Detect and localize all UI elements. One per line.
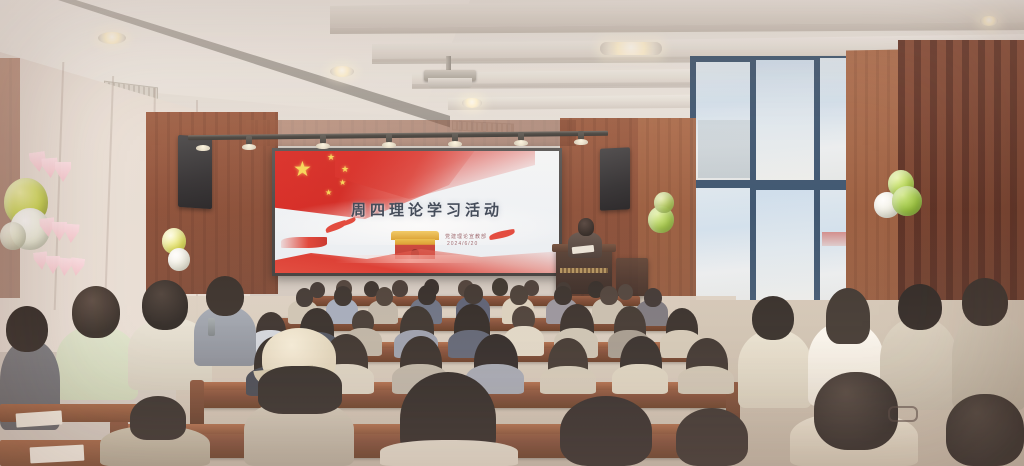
track-spotlight-lens-7 (196, 145, 210, 151)
person-body-d6 (612, 364, 668, 394)
person-head-b4 (418, 285, 436, 305)
track-spotlight-lens-1 (242, 144, 256, 150)
led-subtitle-line2: 2024/6/20 (447, 241, 478, 247)
person-body-front-2 (380, 440, 518, 466)
person-head-b2 (334, 286, 352, 306)
track-spotlight-lens-4 (448, 141, 462, 147)
person-hair-front-3 (560, 396, 652, 466)
led-main-title: 周四理论学习活动 (337, 199, 517, 220)
person-head-right-3 (898, 284, 942, 330)
track-spotlight-lens-6 (574, 139, 588, 145)
person-head-b3 (376, 287, 393, 306)
balloon-left-small (0, 222, 26, 250)
person-hair-front-4 (676, 408, 748, 466)
conference-hall-photo: ★ ★ ★ ★ ★ 周四理论学习活动 党建理论宣教部 2024/6/20 (0, 0, 1024, 466)
flag-star-2: ★ (341, 165, 349, 174)
person-head-b7 (554, 286, 572, 305)
projector-body (428, 78, 472, 88)
downlight-6 (980, 16, 998, 26)
left-wood-strip (0, 58, 20, 298)
window-mullion-v1 (750, 56, 756, 316)
person-front-1-hair (258, 366, 342, 414)
flag-star-1: ★ (327, 153, 335, 162)
ribbon-graphic-left (281, 237, 327, 248)
person-head-b8 (600, 286, 618, 305)
downlight-2 (330, 66, 354, 77)
glasses-front-5 (888, 406, 918, 422)
led-subtitle-line1: 党建理论宣教部 (445, 233, 487, 240)
person-head-left-3 (206, 276, 244, 316)
downlight-3 (462, 98, 482, 108)
flag-star-4: ★ (325, 189, 332, 197)
person-head-front-5 (814, 372, 898, 450)
outside-building (698, 120, 750, 178)
track-spotlight-lens-2 (316, 143, 330, 149)
podium-decorative-strip (560, 268, 608, 273)
led-base-highlight (335, 255, 485, 263)
person-head-left-4 (6, 306, 48, 352)
track-spotlight-lens-3 (382, 142, 396, 148)
window-pane-5 (696, 188, 750, 306)
paper-sheet-2 (30, 445, 85, 464)
person-body-right-1 (738, 330, 812, 408)
person-head-b6 (510, 285, 528, 305)
presenter-head (578, 218, 594, 236)
window-mullion-v2 (814, 56, 820, 316)
flag-star-3: ★ (339, 179, 346, 187)
person-body-d7 (678, 366, 734, 394)
downlight-4 (600, 42, 662, 55)
bench-row-d-end-left (190, 380, 204, 426)
person-head-b1 (296, 288, 313, 307)
person-head-left-1 (72, 286, 120, 338)
person-head-right-4 (962, 278, 1008, 326)
track-spotlight-lens-5 (514, 140, 528, 146)
wall-speaker-right (600, 147, 630, 211)
person-head-left-2 (142, 280, 188, 330)
water-bottle-1 (208, 318, 215, 336)
person-head-b5 (464, 284, 483, 304)
person-head-a11 (618, 284, 633, 300)
downlight-1 (98, 32, 126, 44)
person-head-front-7 (130, 396, 186, 440)
person-head-b9 (644, 288, 662, 307)
person-body-d5 (540, 366, 596, 394)
person-head-a7 (492, 278, 508, 296)
led-screen: ★ ★ ★ ★ ★ 周四理论学习活动 党建理论宣教部 2024/6/20 (275, 151, 559, 273)
window-pane-6 (756, 190, 814, 308)
person-head-front-6 (946, 394, 1024, 466)
person-head-right-1 (752, 296, 794, 340)
balloon-inner-white (168, 248, 190, 271)
window-pane-2 (756, 60, 814, 182)
balloon-right-column-green2 (654, 192, 674, 213)
person-hair-right-2 (826, 288, 870, 344)
balloon-right-green-bottom (892, 186, 922, 216)
person-head-a4 (392, 280, 408, 297)
flag-star-large: ★ (293, 159, 312, 180)
